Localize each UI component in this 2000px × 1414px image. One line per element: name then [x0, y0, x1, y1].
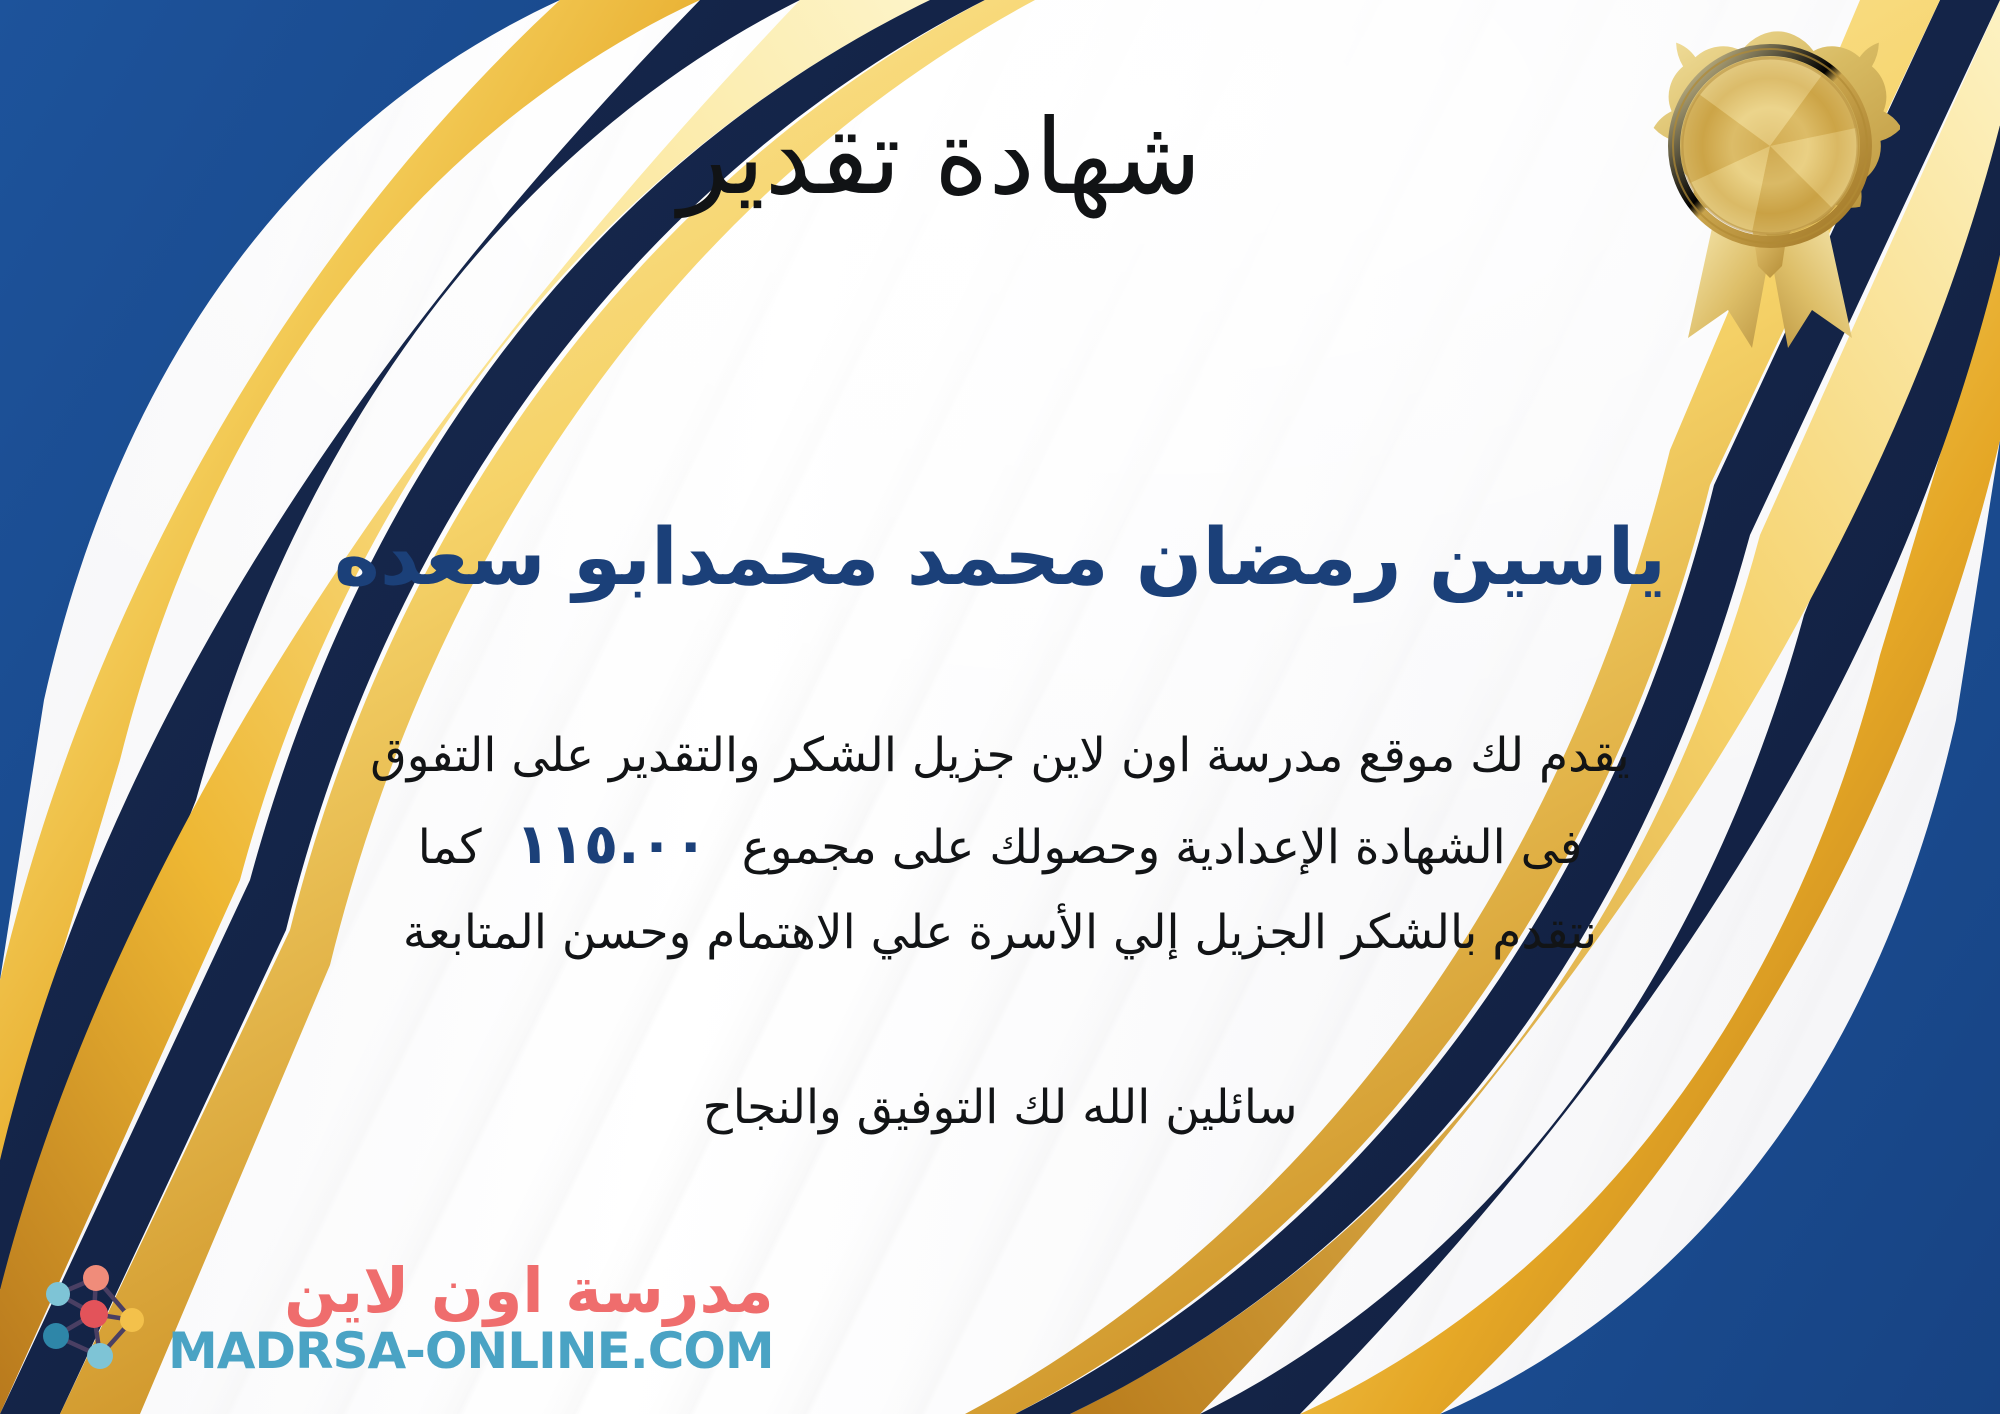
brand-text: مدرسة اون لاين MADRSA-ONLINE.COM: [168, 1260, 774, 1376]
recipient-name: ياسين رمضان محمد محمدابو سعده: [0, 512, 2000, 606]
brand-arabic-name: مدرسة اون لاين: [284, 1260, 774, 1322]
total-score-value: ١١٥.٠٠: [482, 812, 742, 877]
body-line-1: يقدم لك موقع مدرسة اون لاين جزيل الشكر و…: [70, 716, 1930, 797]
body-line-2-suffix: كما: [418, 820, 482, 875]
certificate-canvas: شهادة تقدير ياسين رمضان محمد محمدابو سعد…: [0, 0, 2000, 1414]
body-line-2-prefix: فى الشهادة الإعدادية وحصولك على مجموع: [742, 820, 1583, 875]
closing-wish-line: سائلين الله لك التوفيق والنجاح: [0, 1080, 2000, 1135]
brand-logo[interactable]: مدرسة اون لاين MADRSA-ONLINE.COM: [34, 1258, 774, 1378]
brand-website: MADRSA-ONLINE.COM: [168, 1326, 774, 1376]
body-line-3: نتقدم بالشكر الجزيل إلي الأسرة علي الاهت…: [70, 893, 1930, 974]
certificate-body: يقدم لك موقع مدرسة اون لاين جزيل الشكر و…: [70, 716, 1930, 974]
certificate-title: شهادة تقدير: [0, 96, 2000, 219]
body-line-2: فى الشهادة الإعدادية وحصولك على مجموع١١٥…: [70, 797, 1930, 893]
network-nodes-icon: [34, 1258, 154, 1378]
